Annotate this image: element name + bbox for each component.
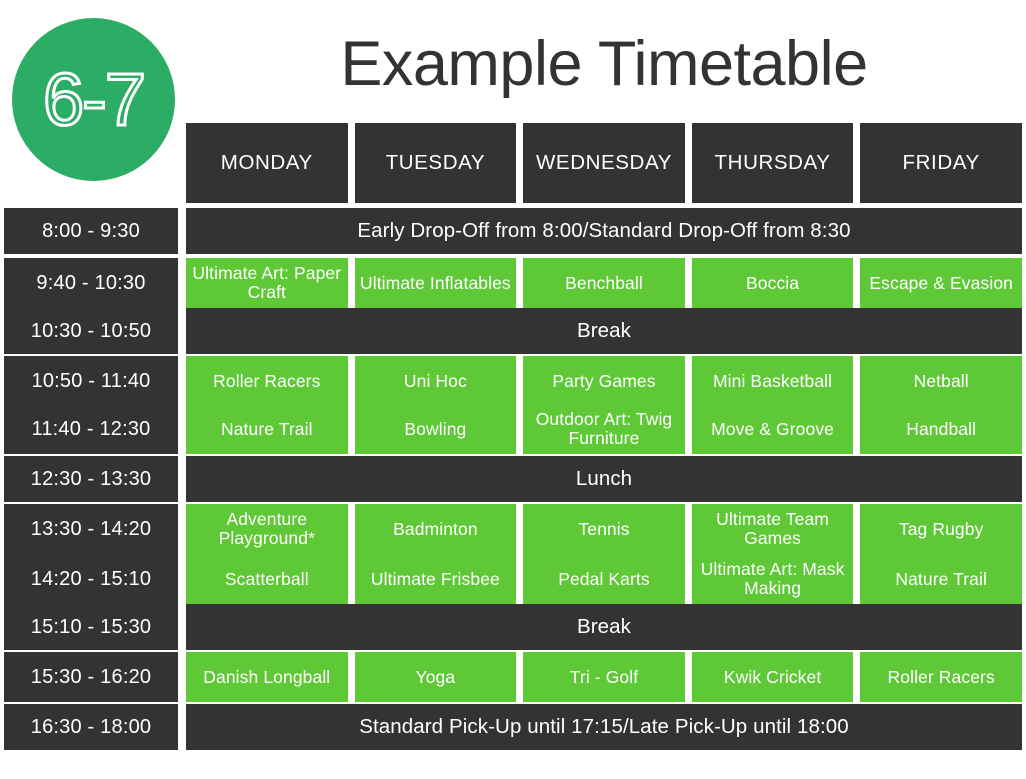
activity-cell[interactable]: Tag Rugby <box>860 504 1022 554</box>
activity-cell[interactable]: Tennis <box>523 504 685 554</box>
day-header-wednesday: WEDNESDAY <box>523 123 685 203</box>
activity-cell[interactable]: Badminton <box>355 504 517 554</box>
time-slot-label: 14:20 - 15:10 <box>4 554 178 604</box>
activity-cell[interactable]: Move & Groove <box>692 404 854 454</box>
activity-cell[interactable]: Yoga <box>355 652 517 702</box>
activity-row: Roller RacersUni HocParty GamesMini Bask… <box>186 356 1022 406</box>
day-header-friday: FRIDAY <box>860 123 1022 203</box>
time-slot-label: 15:30 - 16:20 <box>4 652 178 702</box>
activity-cell[interactable]: Ultimate Inflatables <box>355 258 517 308</box>
activity-cell[interactable]: Roller Racers <box>186 356 348 406</box>
schedule-banner: Break <box>186 308 1022 354</box>
activity-cell[interactable]: Escape & Evasion <box>860 258 1022 308</box>
activity-cell[interactable]: Scatterball <box>186 554 348 604</box>
activity-cell[interactable]: Ultimate Frisbee <box>355 554 517 604</box>
activity-row: Danish LongballYogaTri - GolfKwik Cricke… <box>186 652 1022 702</box>
time-slot-label: 9:40 - 10:30 <box>4 258 178 308</box>
activity-cell[interactable]: Tri - Golf <box>523 652 685 702</box>
activity-row: Ultimate Art: Paper CraftUltimate Inflat… <box>186 258 1022 308</box>
age-group-badge: 6-7 <box>12 18 175 181</box>
activity-row: Nature TrailBowlingOutdoor Art: Twig Fur… <box>186 404 1022 454</box>
activity-row: ScatterballUltimate FrisbeePedal KartsUl… <box>186 554 1022 604</box>
activity-cell[interactable]: Party Games <box>523 356 685 406</box>
day-header-tuesday: TUESDAY <box>355 123 517 203</box>
activity-cell[interactable]: Benchball <box>523 258 685 308</box>
activity-cell[interactable]: Kwik Cricket <box>692 652 854 702</box>
day-header-row: MONDAYTUESDAYWEDNESDAYTHURSDAYFRIDAY <box>186 123 1022 203</box>
activity-cell[interactable]: Danish Longball <box>186 652 348 702</box>
activity-row: Adventure Playground*BadmintonTennisUlti… <box>186 504 1022 554</box>
activity-cell[interactable]: Handball <box>860 404 1022 454</box>
activity-cell[interactable]: Bowling <box>355 404 517 454</box>
timetable-page: 6-7 Example Timetable MONDAYTUESDAYWEDNE… <box>0 0 1026 779</box>
activity-cell[interactable]: Mini Basketball <box>692 356 854 406</box>
activity-cell[interactable]: Nature Trail <box>186 404 348 454</box>
day-header-thursday: THURSDAY <box>692 123 854 203</box>
activity-cell[interactable]: Adventure Playground* <box>186 504 348 554</box>
time-slot-label: 13:30 - 14:20 <box>4 504 178 554</box>
activity-cell[interactable]: Nature Trail <box>860 554 1022 604</box>
schedule-banner: Break <box>186 604 1022 650</box>
time-slot-label: 11:40 - 12:30 <box>4 404 178 454</box>
activity-cell[interactable]: Ultimate Art: Paper Craft <box>186 258 348 308</box>
day-header-monday: MONDAY <box>186 123 348 203</box>
time-slot-label: 8:00 - 9:30 <box>4 208 178 254</box>
time-slot-label: 10:50 - 11:40 <box>4 356 178 406</box>
age-group-badge-label: 6-7 <box>43 63 144 137</box>
page-title: Example Timetable <box>186 14 1022 114</box>
activity-cell[interactable]: Ultimate Team Games <box>692 504 854 554</box>
activity-cell[interactable]: Netball <box>860 356 1022 406</box>
activity-cell[interactable]: Ultimate Art: Mask Making <box>692 554 854 604</box>
time-slot-label: 10:30 - 10:50 <box>4 308 178 354</box>
activity-cell[interactable]: Roller Racers <box>860 652 1022 702</box>
activity-cell[interactable]: Boccia <box>692 258 854 308</box>
schedule-banner: Standard Pick-Up until 17:15/Late Pick-U… <box>186 704 1022 750</box>
page-header: 6-7 Example Timetable <box>0 0 1026 120</box>
activity-cell[interactable]: Uni Hoc <box>355 356 517 406</box>
schedule-banner: Lunch <box>186 456 1022 502</box>
schedule-banner: Early Drop-Off from 8:00/Standard Drop-O… <box>186 208 1022 254</box>
time-slot-label: 12:30 - 13:30 <box>4 456 178 502</box>
activity-cell[interactable]: Outdoor Art: Twig Furniture <box>523 404 685 454</box>
time-slot-label: 16:30 - 18:00 <box>4 704 178 750</box>
activity-cell[interactable]: Pedal Karts <box>523 554 685 604</box>
time-slot-label: 15:10 - 15:30 <box>4 604 178 650</box>
